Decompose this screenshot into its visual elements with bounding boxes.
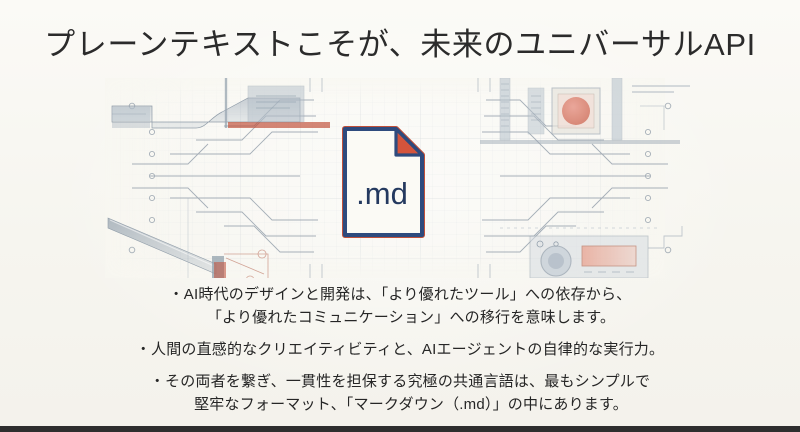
bullet-line: ・人間の直感的なクリエイティビティと、AIエージェントの自律的な実行力。 xyxy=(0,338,800,361)
bullet-item: ・人間の直感的なクリエイティビティと、AIエージェントの自律的な実行力。 xyxy=(0,338,800,361)
page-title: プレーンテキストこそが、未来のユニバーサルAPI xyxy=(0,26,800,65)
beam-red-accent xyxy=(214,262,226,278)
bullet-item: ・AI時代のデザインと開発は、「より優れたツール」への依存から、 「より優れたコ… xyxy=(0,283,800,329)
ramp-red-accent xyxy=(228,122,330,128)
bottom-edge-strip xyxy=(0,426,800,432)
bullet-item: ・その両者を繋ぎ、一貫性を担保する究極の共通言語は、最もシンプルで 堅牢なフォー… xyxy=(0,370,800,416)
body-text-block: ・AI時代のデザインと開発は、「より優れたツール」への依存から、 「より優れたコ… xyxy=(0,283,800,416)
title-container: プレーンテキストこそが、未来のユニバーサルAPI xyxy=(0,26,800,65)
bullet-line: ・AI時代のデザインと開発は、「より優れたツール」への依存から、 xyxy=(0,283,800,306)
file-extension-label: .md xyxy=(356,176,408,211)
radio-display xyxy=(582,246,636,266)
slide-root: プレーンテキストこそが、未来のユニバーサルAPI xyxy=(0,0,800,432)
md-file-icon: .md xyxy=(345,129,422,235)
illustration-svg: .md xyxy=(0,78,800,278)
bullet-line: 堅牢なフォーマット、「マークダウン（.md）」の中にあります。 xyxy=(0,393,800,416)
red-indicator-circle xyxy=(562,97,590,125)
illustration-band: .md xyxy=(0,78,800,278)
bullet-line: 「より優れたコミュニケーション」への移行を意味します。 xyxy=(0,306,800,329)
bullet-line: ・その両者を繋ぎ、一貫性を担保する究極の共通言語は、最もシンプルで xyxy=(0,370,800,393)
